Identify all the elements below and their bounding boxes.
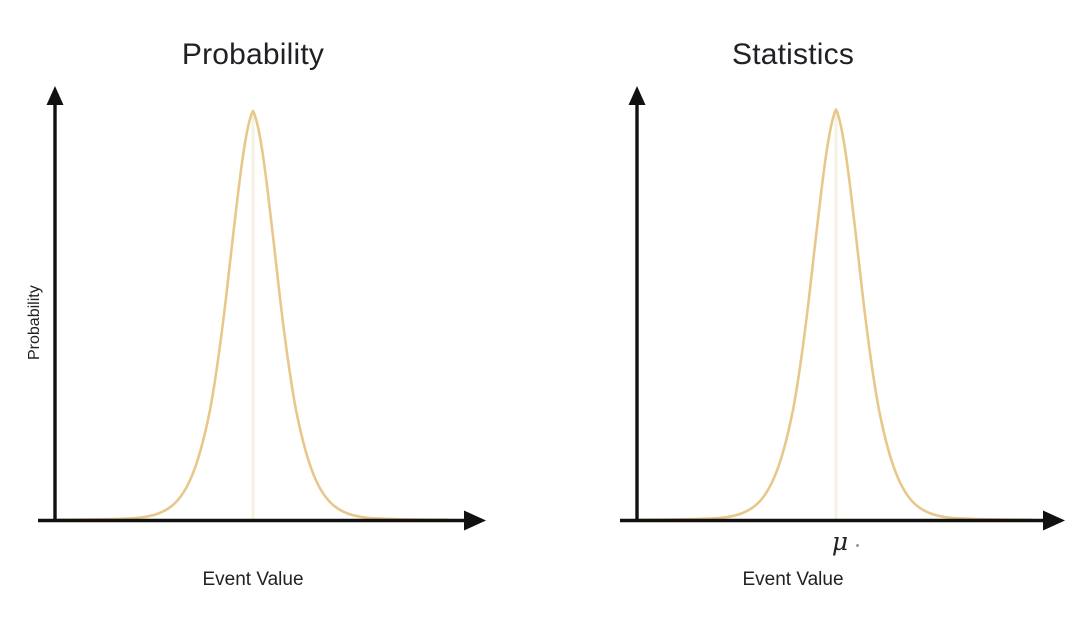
chart-title-statistics: Statistics xyxy=(523,38,1063,72)
mean-symbol-dot xyxy=(856,544,859,547)
mean-symbol-statistics: μ xyxy=(810,528,870,556)
y-axis-label-probability: Probability xyxy=(26,285,44,360)
x-axis-label-statistics: Event Value xyxy=(523,568,1063,592)
panel-probability: Probability Probability Event Value xyxy=(0,0,540,624)
x-axis-label-probability: Event Value xyxy=(0,568,523,592)
chart-title-probability: Probability xyxy=(0,38,523,72)
